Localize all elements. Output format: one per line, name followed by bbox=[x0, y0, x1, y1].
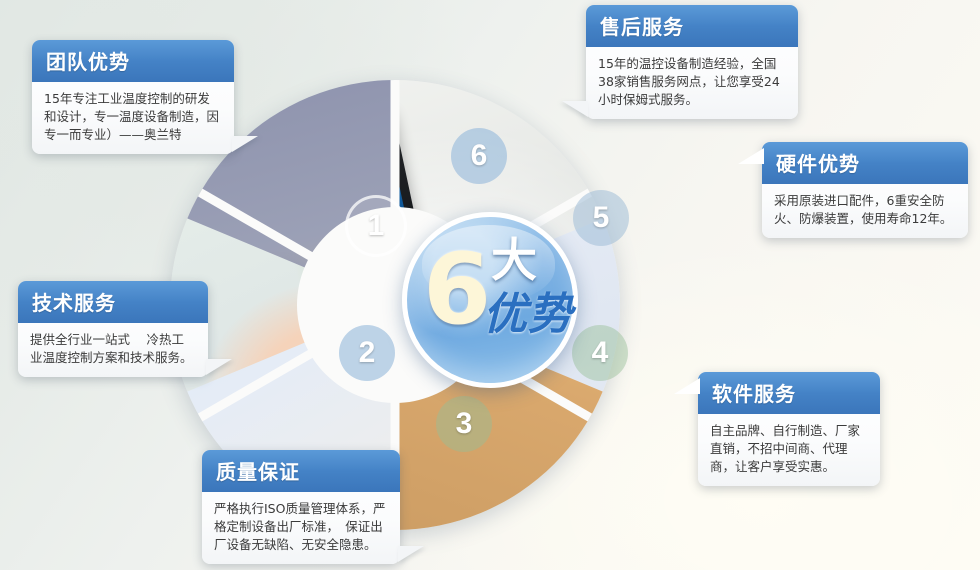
infographic-canvas: INTC 440.90 bbox=[0, 0, 980, 570]
card-after-sales[interactable]: 售后服务 15年的温控设备制造经验，全国38家销售服务网点，让您享受24小时保姆… bbox=[586, 5, 798, 119]
card-hardware-tail bbox=[738, 148, 764, 164]
card-quality-title: 质量保证 bbox=[202, 450, 400, 492]
badge-number: 6 bbox=[423, 241, 489, 339]
card-technical-title: 技术服务 bbox=[18, 281, 208, 323]
card-software-body: 自主品牌、自行制造、厂家直销，不招中间商、代理商，让客户享受实惠。 bbox=[698, 414, 880, 486]
card-team[interactable]: 团队优势 15年专注工业温度控制的研发和设计，专一温度设备制造，因专一而专业）—… bbox=[32, 40, 234, 154]
card-hardware-body: 采用原装进口配件，6重安全防火、防爆装置，使用寿命12年。 bbox=[762, 184, 968, 238]
card-hardware-title: 硬件优势 bbox=[762, 142, 968, 184]
card-technical-body: 提供全行业一站式 冷热工业温度控制方案和技术服务。 bbox=[18, 323, 208, 377]
center-badge: 6 大 优势 bbox=[402, 212, 578, 388]
card-hardware[interactable]: 硬件优势 采用原装进口配件，6重安全防火、防爆装置，使用寿命12年。 bbox=[762, 142, 968, 238]
card-team-tail bbox=[232, 136, 258, 152]
card-quality[interactable]: 质量保证 严格执行ISO质量管理体系，严格定制设备出厂标准， 保证出厂设备无缺陷… bbox=[202, 450, 400, 564]
card-quality-tail bbox=[398, 546, 424, 562]
segment-number-2[interactable]: 2 bbox=[339, 325, 395, 381]
card-after-sales-body: 15年的温控设备制造经验，全国38家销售服务网点，让您享受24小时保姆式服务。 bbox=[586, 47, 798, 119]
card-technical-tail bbox=[206, 359, 232, 375]
segment-number-5[interactable]: 5 bbox=[573, 190, 629, 246]
card-team-body: 15年专注工业温度控制的研发和设计，专一温度设备制造，因专一而专业）——奥兰特 bbox=[32, 82, 234, 154]
card-quality-body: 严格执行ISO质量管理体系，严格定制设备出厂标准， 保证出厂设备无缺陷、无安全隐… bbox=[202, 492, 400, 564]
card-software-tail bbox=[674, 378, 700, 394]
segment-number-6[interactable]: 6 bbox=[451, 128, 507, 184]
segment-number-1[interactable]: 1 bbox=[345, 195, 407, 257]
card-after-sales-tail bbox=[562, 101, 588, 117]
badge-big-word: 大 bbox=[491, 237, 537, 283]
card-software[interactable]: 软件服务 自主品牌、自行制造、厂家直销，不招中间商、代理商，让客户享受实惠。 bbox=[698, 372, 880, 486]
card-team-title: 团队优势 bbox=[32, 40, 234, 82]
card-software-title: 软件服务 bbox=[698, 372, 880, 414]
segment-number-4[interactable]: 4 bbox=[572, 325, 628, 381]
card-technical[interactable]: 技术服务 提供全行业一站式 冷热工业温度控制方案和技术服务。 bbox=[18, 281, 208, 377]
card-after-sales-title: 售后服务 bbox=[586, 5, 798, 47]
badge-sub-word: 优势 bbox=[483, 291, 573, 339]
segment-number-3[interactable]: 3 bbox=[436, 396, 492, 452]
